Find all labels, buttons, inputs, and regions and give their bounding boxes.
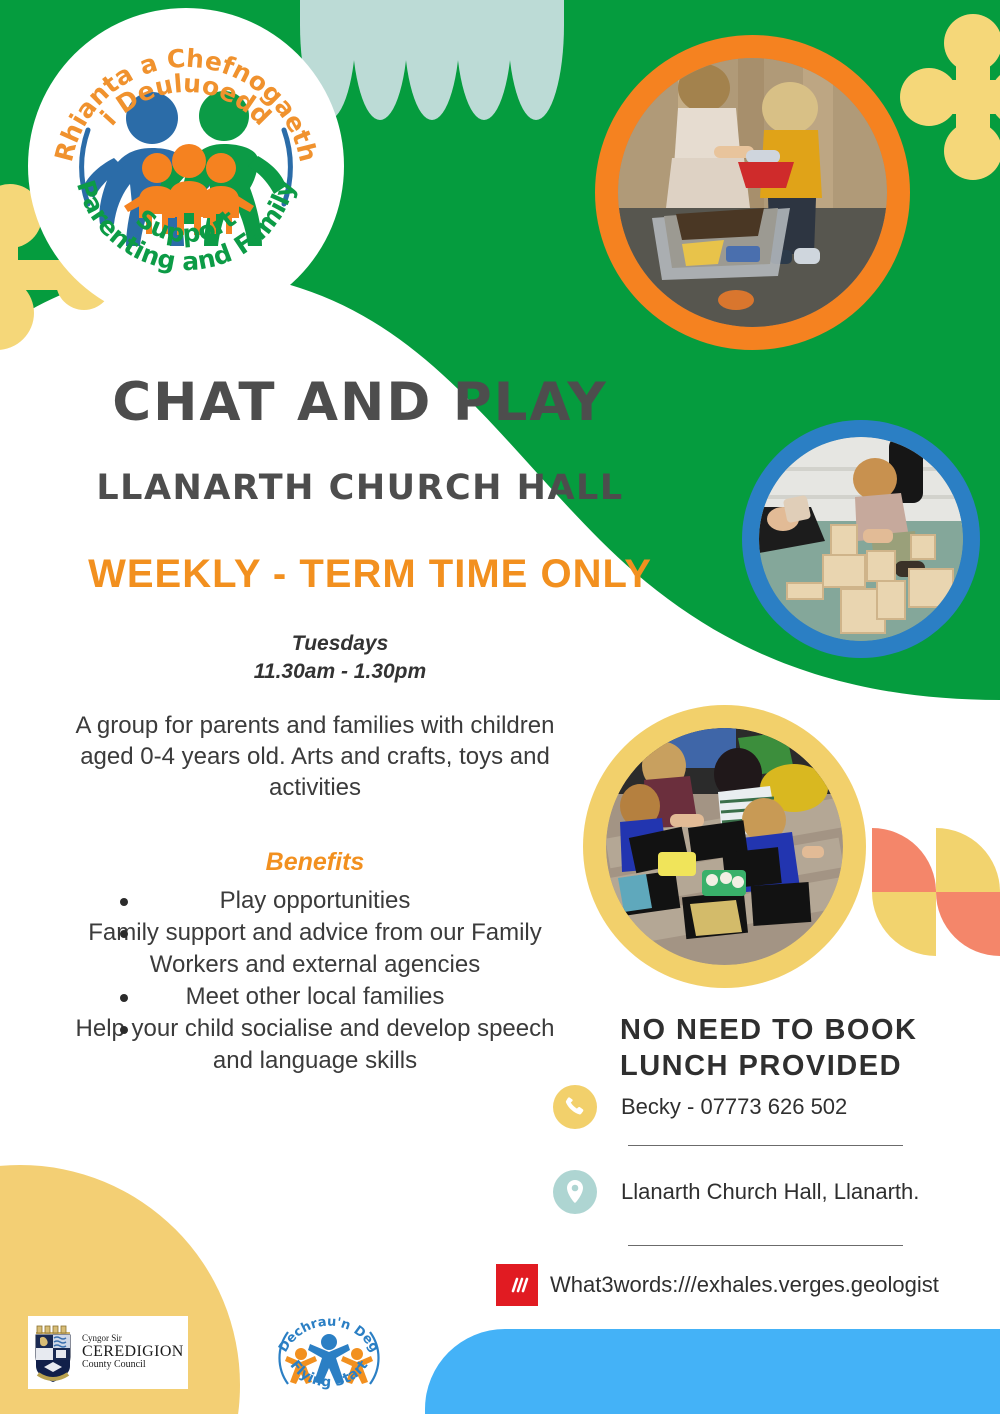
schedule-day: Tuesdays [60,630,620,658]
benefit-text: Play opportunities [220,887,411,914]
contact-what3words-text: What3words:///exhales.verges.geologist [550,1272,939,1298]
list-item: Play opportunities [75,885,555,917]
venue-subtitle: LLANARTH CHURCH HALL [60,468,660,508]
contact-phone-row[interactable]: Becky - 07773 626 502 [553,1085,847,1129]
schedule-block: Tuesdays 11.30am - 1.30pm [60,630,620,686]
booking-line-2: LUNCH PROVIDED [620,1048,1000,1084]
description-text: A group for parents and families with ch… [75,710,555,803]
divider [628,1145,903,1146]
benefit-text: Family support and advice from our Famil… [88,919,542,978]
arc-pattern-decoration [872,828,1000,956]
council-crest-icon [28,1322,78,1384]
what3words-icon [496,1264,538,1306]
benefit-text: Help your child socialise and develop sp… [76,1015,555,1074]
divider [628,1245,903,1246]
photo-sandpit [595,35,910,350]
contact-location-text: Llanarth Church Hall, Llanarth. [621,1179,919,1205]
council-line-3: County Council [82,1360,184,1371]
page-title: CHAT AND PLAY [60,372,660,433]
contact-phone-text: Becky - 07773 626 502 [621,1094,847,1120]
parenting-family-support-logo: Rhianta a Chefnogaeth i Deuluoedd Parent… [28,8,344,324]
bullet-icon [120,994,128,1002]
contact-location-row[interactable]: Llanarth Church Hall, Llanarth. [553,1170,919,1214]
location-pin-icon [553,1170,597,1214]
benefits-list: Play opportunities Family support and ad… [75,885,555,1077]
bullet-icon [120,898,128,906]
contact-what3words-row[interactable]: What3words:///exhales.verges.geologist [496,1264,939,1306]
phone-icon [553,1085,597,1129]
bullet-icon [120,930,128,938]
list-item: Meet other local families [75,981,555,1013]
ceredigion-council-logo: Cyngor Sir CEREDIGION County Council [28,1316,188,1389]
poster-root: Rhianta a Chefnogaeth i Deuluoedd Parent… [0,0,1000,1414]
schedule-time: 11.30am - 1.30pm [60,658,620,686]
booking-line-1: NO NEED TO BOOK [620,1012,1000,1048]
yellow-blob-right-decoration [900,10,1000,190]
flying-start-logo: Dechrau'n Deg Flying Start [268,1298,390,1410]
list-item: Family support and advice from our Famil… [75,917,555,981]
photo-blocks [742,420,980,658]
bullet-icon [120,1026,128,1034]
council-line-2: CEREDIGION [82,1344,184,1361]
benefits-heading: Benefits [75,848,555,877]
benefit-text: Meet other local families [186,983,445,1010]
council-text: Cyngor Sir CEREDIGION County Council [82,1334,184,1371]
blue-band-decoration [425,1329,1000,1414]
frequency-banner: WEEKLY - TERM TIME ONLY [45,552,695,597]
booking-notice: NO NEED TO BOOK LUNCH PROVIDED [620,1012,1000,1084]
list-item: Help your child socialise and develop sp… [75,1013,555,1077]
photo-crafts [583,705,866,988]
